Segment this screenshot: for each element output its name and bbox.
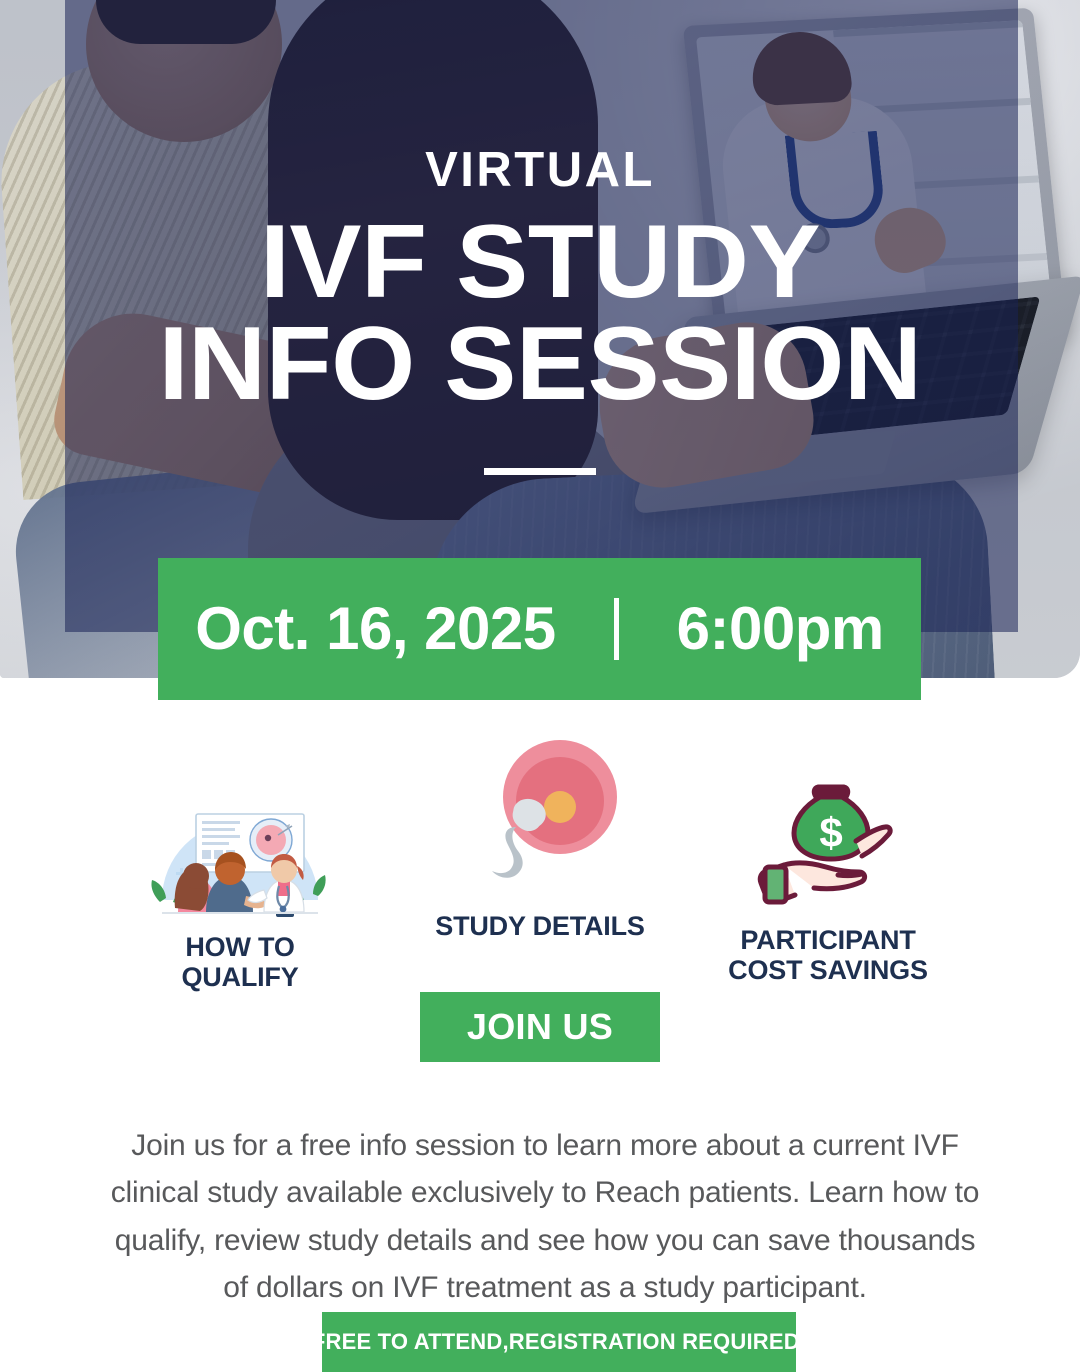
join-us-button[interactable]: JOIN US xyxy=(420,992,660,1062)
feature-label-how-to-qualify: HOW TO QUALIFY xyxy=(130,932,350,992)
feature-study-details: STUDY DETAILS xyxy=(430,735,650,941)
event-date: Oct. 16, 2025 xyxy=(195,599,613,659)
title-divider xyxy=(484,468,596,475)
feature-label-study-details: STUDY DETAILS xyxy=(430,911,650,941)
date-time-banner: Oct. 16, 2025 6:00pm xyxy=(158,558,921,700)
page-title-line-2: INFO SESSION xyxy=(0,314,1080,416)
couple-consultation-illustration xyxy=(140,790,340,920)
body-copy: Join us for a free info session to learn… xyxy=(110,1122,980,1312)
join-us-button-label: JOIN US xyxy=(467,1006,613,1048)
svg-text:$: $ xyxy=(819,809,842,856)
feature-participant-cost-savings: $ PARTICIPANT COST SAVINGS xyxy=(718,775,938,985)
hero-kicker: VIRTUAL xyxy=(0,146,1080,195)
sperm-egg-fertilization-icon xyxy=(450,735,630,905)
registration-banner-text: FREE TO ATTEND,REGISTRATION REQUIRED. xyxy=(312,1329,806,1355)
page-title-line-1: IVF STUDY xyxy=(0,212,1080,314)
page-title: IVF STUDY INFO SESSION xyxy=(0,212,1080,416)
event-time: 6:00pm xyxy=(619,599,884,659)
registration-banner: FREE TO ATTEND,REGISTRATION REQUIRED. xyxy=(322,1312,796,1372)
hand-holding-money-bag-icon: $ xyxy=(738,775,918,915)
feature-row: HOW TO QUALIFY STUDY DETAILS xyxy=(0,735,1080,995)
feature-how-to-qualify: HOW TO QUALIFY xyxy=(130,790,350,992)
feature-label-participant-cost-savings: PARTICIPANT COST SAVINGS xyxy=(718,925,938,985)
